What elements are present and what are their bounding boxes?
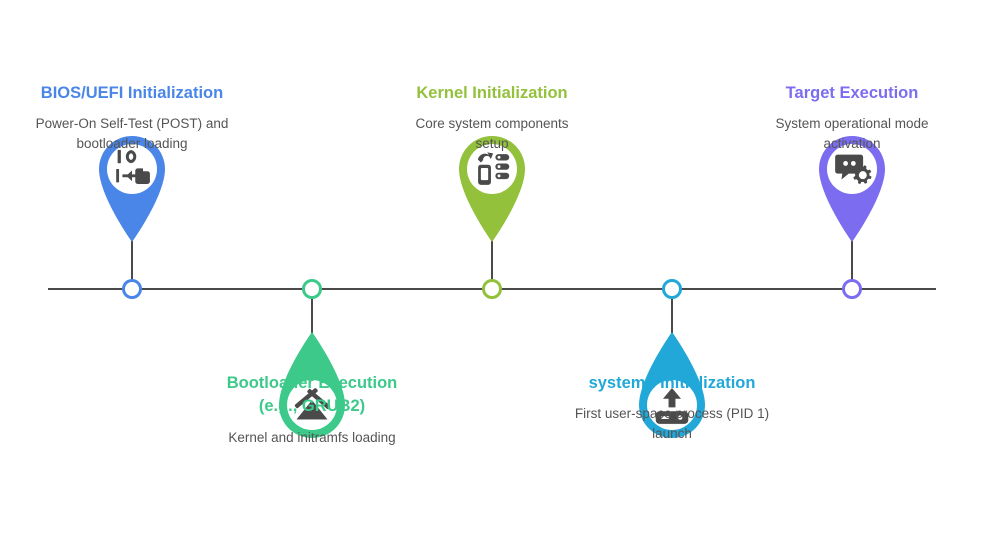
node-description: First user-space process (PID 1) launch [572,404,772,443]
node-text-block: Bootloader Execution (e.g., GRUB2) Kerne… [214,372,410,447]
timeline-marker[interactable] [122,279,142,299]
node-text-block: systemd Initialization First user-space … [572,372,772,444]
node-text-block: Kernel Initialization Core system compon… [402,82,582,154]
node-description: System operational mode activation [752,114,952,153]
node-title: Target Execution [752,82,952,105]
node-title: Kernel Initialization [402,82,582,105]
node-text-block: BIOS/UEFI Initialization Power-On Self-T… [17,82,247,154]
node-stem [491,240,493,284]
node-text-block: Target Execution System operational mode… [752,82,952,154]
node-title: Bootloader Execution (e.g., GRUB2) [214,372,410,419]
timeline-diagram: BIOS/UEFI Initialization Power-On Self-T… [0,0,984,547]
timeline-marker[interactable] [482,279,502,299]
timeline-marker[interactable] [842,279,862,299]
node-description: Power-On Self-Test (POST) and bootloader… [17,114,247,153]
node-stem [131,240,133,284]
timeline-marker[interactable] [662,279,682,299]
node-title: BIOS/UEFI Initialization [17,82,247,105]
node-description: Core system components setup [402,114,582,153]
timeline-marker[interactable] [302,279,322,299]
node-title: systemd Initialization [572,372,772,395]
node-description: Kernel and initramfs loading [214,428,410,448]
node-stem [851,240,853,284]
